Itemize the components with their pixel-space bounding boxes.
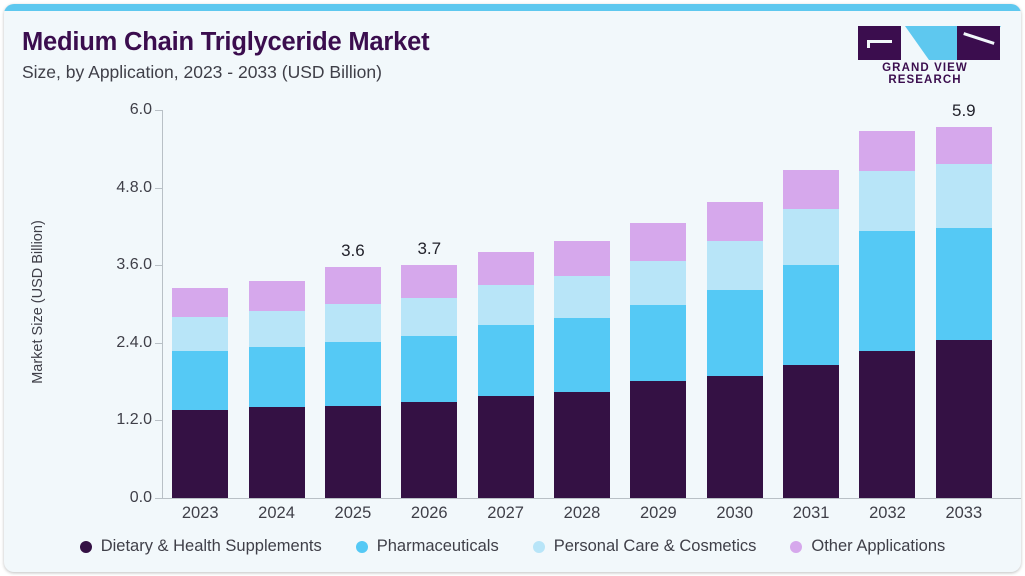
bar-segment[interactable]	[554, 318, 610, 392]
y-axis-tick-mark	[155, 343, 162, 344]
x-axis-tick-label: 2033	[919, 504, 1009, 523]
bar-segment[interactable]	[707, 202, 763, 241]
bar-segment[interactable]	[783, 170, 839, 209]
y-axis-title: Market Size (USD Billion)	[30, 172, 46, 432]
bar-segment[interactable]	[478, 325, 534, 396]
bar-segment[interactable]	[325, 304, 381, 342]
y-axis-tick-label: 0.0	[92, 489, 152, 507]
bar-series-container: 3.63.75.9	[162, 110, 1002, 498]
y-axis-tick-mark	[155, 498, 162, 499]
legend-swatch-icon	[533, 541, 545, 553]
bar-group[interactable]	[249, 281, 305, 498]
bar-segment[interactable]	[630, 305, 686, 381]
legend-label: Dietary & Health Supplements	[101, 537, 322, 556]
bar-group[interactable]	[783, 170, 839, 498]
bar-segment[interactable]	[172, 288, 228, 317]
bar-segment[interactable]	[249, 407, 305, 498]
y-axis-tick-label: 6.0	[92, 101, 152, 119]
legend-label: Other Applications	[811, 537, 945, 556]
legend-swatch-icon	[790, 541, 802, 553]
bar-segment[interactable]	[478, 252, 534, 286]
bar-group[interactable]	[859, 131, 915, 498]
y-axis-tick-label: 2.4.0	[92, 334, 152, 352]
legend-item[interactable]: Dietary & Health Supplements	[80, 537, 322, 556]
bar-segment[interactable]	[936, 340, 992, 498]
legend-item[interactable]: Personal Care & Cosmetics	[533, 537, 757, 556]
bar-segment[interactable]	[783, 365, 839, 498]
bar-segment[interactable]	[172, 351, 228, 410]
bar-segment[interactable]	[707, 376, 763, 498]
legend-item[interactable]: Pharmaceuticals	[356, 537, 499, 556]
legend-label: Pharmaceuticals	[377, 537, 499, 556]
bar-group[interactable]: 3.7	[401, 265, 457, 498]
chart-legend: Dietary & Health SupplementsPharmaceutic…	[4, 537, 1021, 556]
bar-segment[interactable]	[630, 261, 686, 306]
y-axis-tick-mark	[155, 110, 162, 111]
bar-segment[interactable]	[401, 336, 457, 401]
bar-segment[interactable]	[172, 410, 228, 498]
bar-segment[interactable]	[630, 223, 686, 261]
bar-segment[interactable]	[401, 265, 457, 297]
bar-segment[interactable]	[936, 164, 992, 228]
bar-group[interactable]	[630, 223, 686, 498]
bar-group[interactable]	[707, 202, 763, 498]
bar-group[interactable]	[172, 288, 228, 498]
y-axis-tick-mark	[155, 265, 162, 266]
bar-segment[interactable]	[859, 171, 915, 230]
bar-segment[interactable]	[554, 276, 610, 318]
chart-card: Medium Chain Triglyceride Market Size, b…	[4, 4, 1021, 572]
bar-segment[interactable]	[554, 392, 610, 498]
bar-segment[interactable]	[325, 267, 381, 304]
bar-segment[interactable]	[554, 241, 610, 276]
x-axis-line	[162, 498, 1021, 499]
legend-swatch-icon	[356, 541, 368, 553]
bar-value-label: 5.9	[919, 101, 1009, 121]
y-axis-tick-label: 1.2.0	[92, 411, 152, 429]
bar-segment[interactable]	[478, 285, 534, 325]
y-axis-tick-mark	[155, 420, 162, 421]
bar-segment[interactable]	[249, 347, 305, 408]
bar-segment[interactable]	[478, 396, 534, 498]
bar-segment[interactable]	[936, 228, 992, 339]
y-axis-tick-label: 3.6.0	[92, 256, 152, 274]
bar-segment[interactable]	[707, 241, 763, 291]
bar-segment[interactable]	[325, 406, 381, 498]
bar-segment[interactable]	[859, 131, 915, 172]
bar-segment[interactable]	[783, 265, 839, 365]
bar-segment[interactable]	[630, 381, 686, 498]
bar-segment[interactable]	[707, 290, 763, 375]
y-axis-tick-label: 4.8.0	[92, 179, 152, 197]
chart-plot-area: Market Size (USD Billion) 0.01.2.02.4.03…	[4, 4, 1021, 572]
bar-segment[interactable]	[249, 281, 305, 311]
legend-swatch-icon	[80, 541, 92, 553]
bar-segment[interactable]	[172, 317, 228, 351]
bar-group[interactable]	[478, 252, 534, 498]
bar-group[interactable]: 5.9	[936, 127, 992, 498]
bar-segment[interactable]	[401, 298, 457, 337]
bar-value-label: 3.7	[384, 239, 474, 259]
bar-segment[interactable]	[783, 209, 839, 265]
bar-segment[interactable]	[859, 231, 915, 351]
legend-label: Personal Care & Cosmetics	[554, 537, 757, 556]
bar-segment[interactable]	[936, 127, 992, 165]
legend-item[interactable]: Other Applications	[790, 537, 945, 556]
bar-segment[interactable]	[401, 402, 457, 498]
bar-segment[interactable]	[325, 342, 381, 406]
y-axis-tick-mark	[155, 188, 162, 189]
bar-group[interactable]	[554, 241, 610, 498]
bar-segment[interactable]	[249, 311, 305, 347]
bar-segment[interactable]	[859, 351, 915, 498]
bar-group[interactable]: 3.6	[325, 267, 381, 498]
